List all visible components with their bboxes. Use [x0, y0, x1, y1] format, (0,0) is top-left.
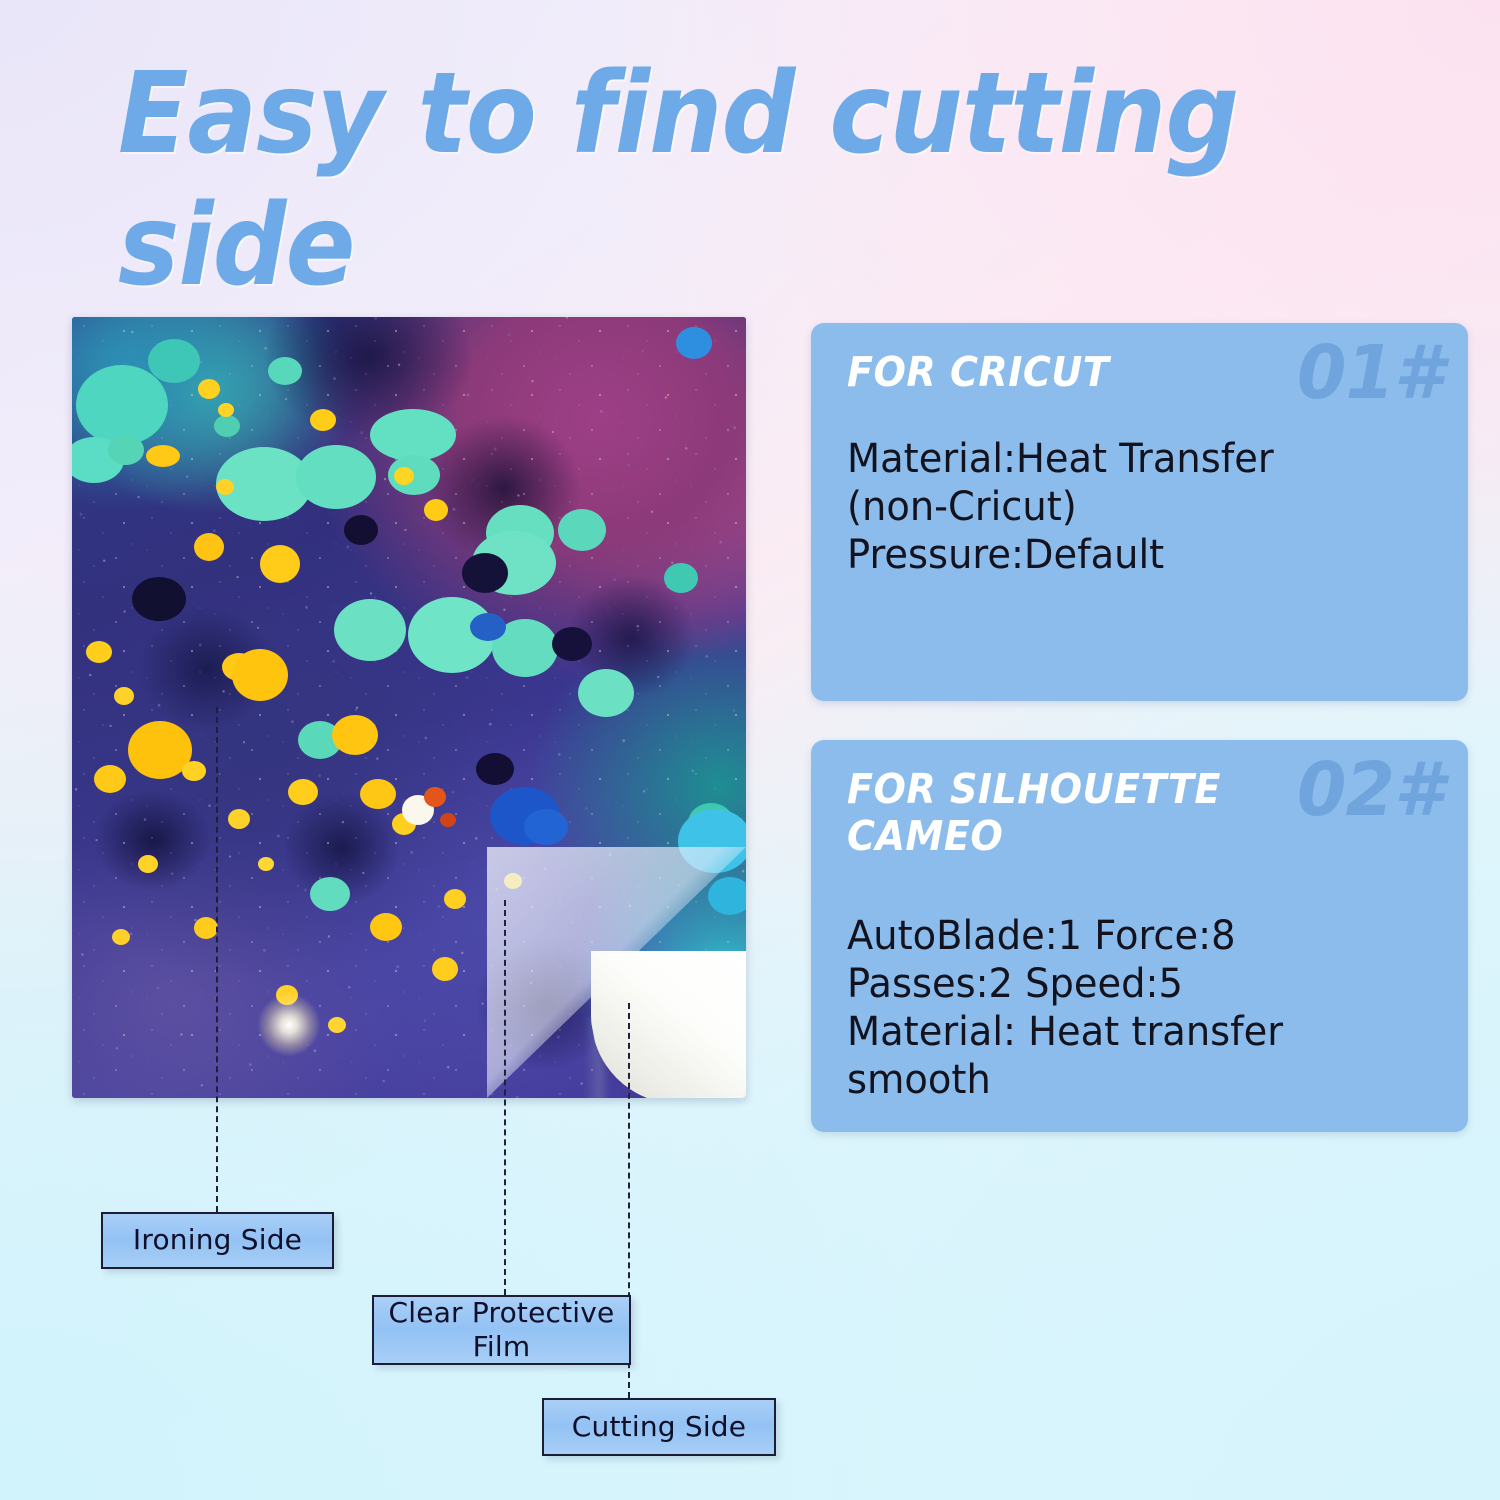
mint-dot — [578, 669, 634, 717]
card-body-text: AutoBlade:1 Force:8 Passes:2 Speed:5 Mat… — [847, 912, 1423, 1104]
dark-blot — [552, 627, 592, 661]
yellow-dot — [260, 545, 300, 583]
mint-dot — [268, 357, 302, 385]
leader-line-film — [504, 900, 506, 1295]
callout-cutting-side[interactable]: Cutting Side — [542, 1398, 776, 1456]
yellow-dot — [258, 857, 274, 871]
vinyl-sheet-surface — [72, 317, 746, 1098]
page-title: Easy to find cutting side — [118, 48, 1286, 312]
yellow-dot — [218, 403, 234, 417]
yellow-dot — [138, 855, 158, 873]
card-title: FOR SILHOUETTE CAMEO — [847, 766, 1247, 859]
yellow-dot — [328, 1017, 346, 1033]
mint-dot — [148, 339, 200, 383]
yellow-dot — [94, 765, 126, 793]
peeled-backing-corner — [591, 951, 746, 1098]
yellow-dot — [198, 379, 220, 399]
card-number-badge: 02# — [1297, 753, 1442, 827]
yellow-dot — [182, 761, 206, 781]
callout-label: Cutting Side — [572, 1410, 746, 1444]
blue-dot — [708, 877, 746, 915]
yellow-dot — [114, 687, 134, 705]
callout-clear-protective-film[interactable]: Clear Protective Film — [372, 1295, 631, 1365]
yellow-dot — [112, 929, 130, 945]
yellow-dot — [86, 641, 112, 663]
callout-label: Clear Protective Film — [389, 1296, 615, 1364]
yellow-dot — [332, 715, 378, 755]
ironing-marker-glow — [258, 994, 320, 1056]
mint-dot — [558, 509, 606, 551]
yellow-dot — [370, 913, 402, 941]
orange-speck — [440, 813, 456, 827]
yellow-dot — [360, 779, 396, 809]
yellow-dot — [194, 917, 218, 939]
yellow-dot — [216, 479, 234, 495]
yellow-dot — [394, 467, 414, 485]
mint-dot — [296, 445, 376, 509]
mint-dot — [214, 415, 240, 437]
mint-dot — [664, 563, 698, 593]
yellow-dot — [194, 533, 224, 561]
callout-ironing-side[interactable]: Ironing Side — [101, 1212, 334, 1269]
yellow-dot — [232, 649, 288, 701]
dark-blot — [476, 753, 514, 785]
yellow-dot — [310, 409, 336, 431]
blue-dot — [676, 327, 712, 359]
yellow-dot — [228, 809, 250, 829]
mint-dot — [334, 599, 406, 661]
info-card-silhouette-cameo[interactable]: 02# FOR SILHOUETTE CAMEO AutoBlade:1 For… — [811, 740, 1468, 1132]
card-body-text: Material:Heat Transfer (non-Cricut) Pres… — [847, 435, 1423, 579]
card-title: FOR CRICUT — [847, 349, 1247, 396]
mint-dot — [310, 877, 350, 911]
yellow-dot — [288, 779, 318, 805]
dark-blot — [344, 515, 378, 545]
dark-blot — [132, 577, 186, 621]
yellow-dot — [424, 499, 448, 521]
vinyl-sheet-photo — [72, 317, 746, 1098]
yellow-dot — [432, 957, 458, 981]
card-number-badge: 01# — [1297, 336, 1442, 410]
poster-canvas: Easy to find cutting side — [0, 0, 1500, 1500]
mint-dot — [108, 435, 144, 465]
yellow-dot — [146, 445, 180, 467]
callout-label: Ironing Side — [133, 1223, 302, 1257]
yellow-dot — [444, 889, 466, 909]
info-card-cricut[interactable]: 01# FOR CRICUT Material:Heat Transfer (n… — [811, 323, 1468, 701]
leader-line-ironing — [216, 707, 218, 1212]
blue-dot — [470, 613, 506, 641]
mint-dot — [76, 365, 168, 445]
mint-dot — [370, 409, 456, 461]
orange-speck — [424, 787, 446, 807]
dark-blot — [462, 553, 508, 593]
blue-dot — [524, 809, 568, 845]
